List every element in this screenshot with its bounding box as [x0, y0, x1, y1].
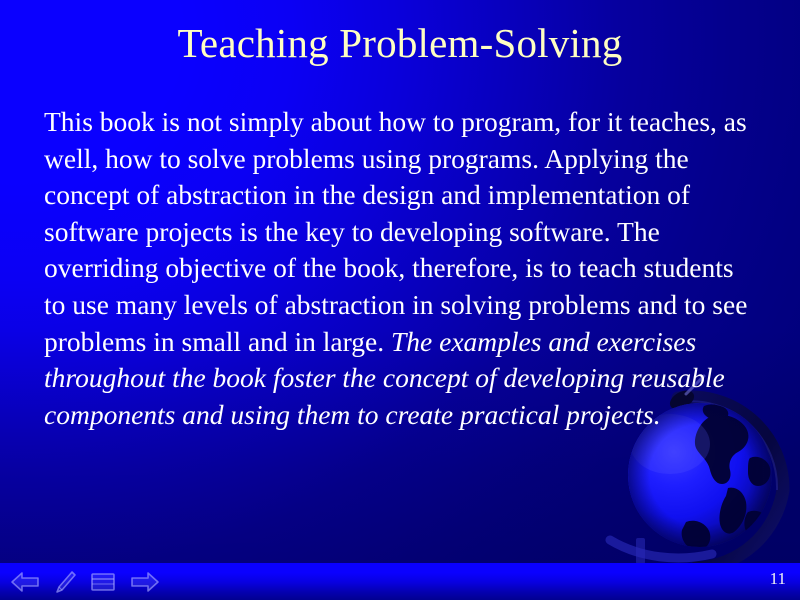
presentation-slide: Teaching Problem-Solving This book is no… [0, 0, 800, 600]
forward-arrow-icon[interactable] [130, 571, 160, 593]
body-paragraph-roman: This book is not simply about how to pro… [44, 106, 747, 357]
page-number: 11 [770, 566, 786, 592]
back-arrow-icon[interactable] [10, 571, 40, 593]
pen-icon[interactable] [54, 570, 76, 594]
slide-body-text: This book is not simply about how to pro… [44, 104, 760, 433]
navigation-controls [10, 566, 150, 598]
slide-title: Teaching Problem-Solving [0, 18, 800, 68]
slide-page-icon[interactable] [90, 571, 116, 593]
